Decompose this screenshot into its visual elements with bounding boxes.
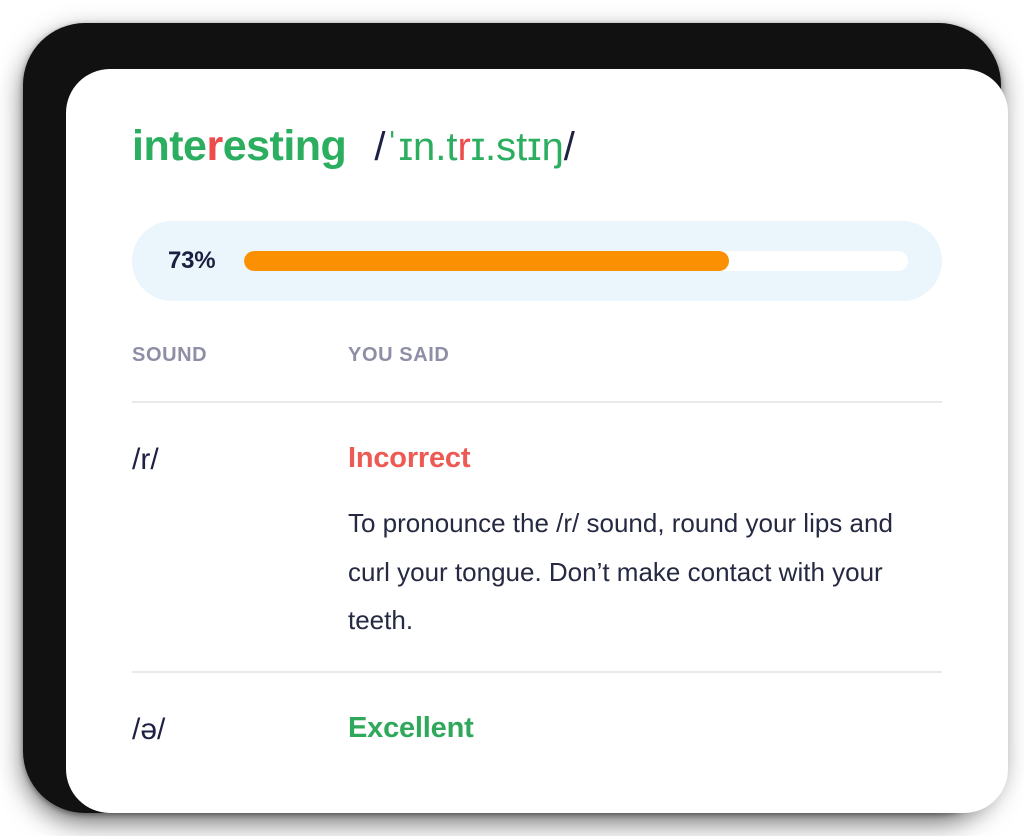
column-header-sound: SOUND xyxy=(132,344,348,367)
device-bezel: interesting /ˈɪn.trɪ.stɪŋ/ 73% SOUND YOU… xyxy=(23,23,1001,813)
ipa-segment-correct-1: ˈɪn.t xyxy=(385,125,457,169)
verdict-badge: Excellent xyxy=(348,713,942,745)
ipa-open-slash: / xyxy=(374,125,385,169)
sound-symbol: /r/ xyxy=(132,443,348,476)
word-segment-correct-1: inte xyxy=(132,122,206,170)
score-percent-label: 73% xyxy=(168,247,230,275)
ipa-close-slash: / xyxy=(564,125,575,169)
table-row[interactable]: /r/ Incorrect To pronounce the /r/ sound… xyxy=(132,403,942,671)
word-headline: interesting /ˈɪn.trɪ.stɪŋ/ xyxy=(132,125,575,168)
sound-results-table: SOUND YOU SAID /r/ Incorrect To pronounc… xyxy=(132,344,942,772)
word-segment-incorrect: r xyxy=(206,122,222,170)
table-row[interactable]: /ə/ Excellent xyxy=(132,673,942,772)
ipa-segment-incorrect: r xyxy=(457,125,470,169)
feedback-card: interesting /ˈɪn.trɪ.stɪŋ/ 73% SOUND YOU… xyxy=(66,69,1008,813)
score-progress-fill xyxy=(244,251,729,271)
sound-symbol: /ə/ xyxy=(132,713,348,746)
card-content: interesting /ˈɪn.trɪ.stɪŋ/ 73% SOUND YOU… xyxy=(66,69,1008,813)
table-header-row: SOUND YOU SAID xyxy=(132,344,942,401)
verdict-badge: Incorrect xyxy=(348,443,942,475)
ipa-segment-correct-2: ɪ.stɪŋ xyxy=(471,125,564,169)
target-word: interesting xyxy=(132,125,346,168)
score-progress-panel: 73% xyxy=(132,221,942,301)
ipa-transcription: /ˈɪn.trɪ.stɪŋ/ xyxy=(374,127,575,167)
word-segment-correct-2: esting xyxy=(223,122,347,170)
column-header-you-said: YOU SAID xyxy=(348,344,942,367)
pronunciation-tip: To pronounce the /r/ sound, round your l… xyxy=(348,499,940,645)
score-progress-track xyxy=(244,251,908,271)
